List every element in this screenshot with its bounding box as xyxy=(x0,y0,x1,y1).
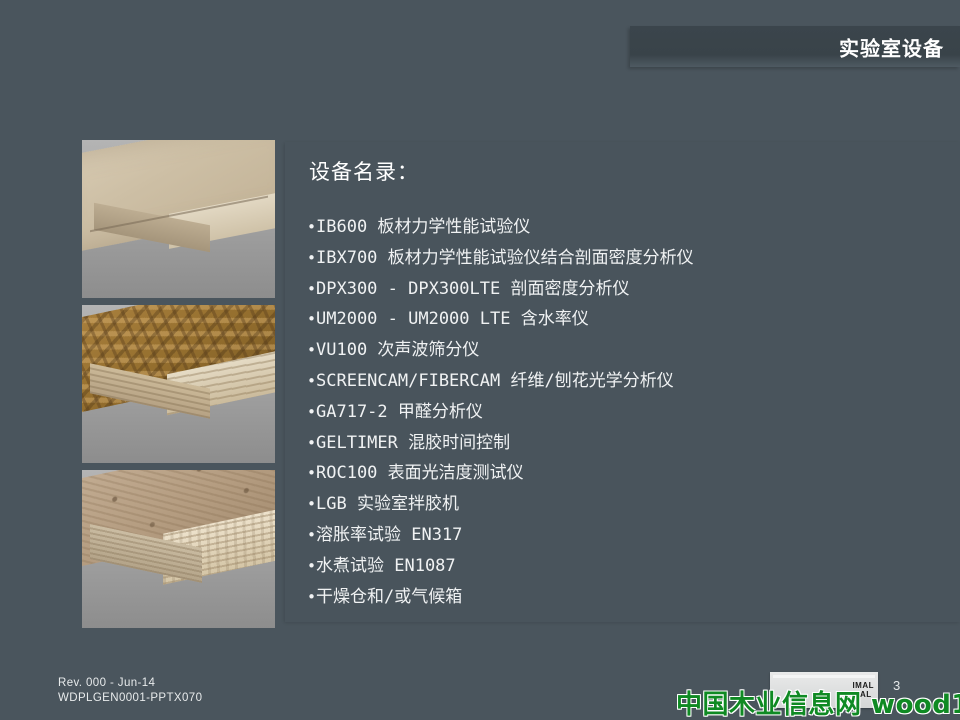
list-item: GA717-2 甲醛分析仪 xyxy=(307,397,952,428)
equipment-content-panel: 设备名录： IB600 板材力学性能试验仪 IBX700 板材力学性能试验仪结合… xyxy=(285,142,960,622)
list-item: UM2000 - UM2000 LTE 含水率仪 xyxy=(307,304,952,335)
list-item: IBX700 板材力学性能试验仪结合剖面密度分析仪 xyxy=(307,243,952,274)
site-watermark: 中国木业信息网 wood168.com xyxy=(676,684,960,720)
list-item: 溶胀率试验 EN317 xyxy=(307,520,952,551)
mdf-board-photo xyxy=(82,140,275,298)
equipment-list: IB600 板材力学性能试验仪 IBX700 板材力学性能试验仪结合剖面密度分析… xyxy=(307,212,952,612)
footer-revision: Rev. 000 - Jun-14 xyxy=(58,676,202,691)
list-item: GELTIMER 混胶时间控制 xyxy=(307,428,952,459)
logo-top-bar xyxy=(773,675,875,678)
slide-header-bar: 实验室设备 xyxy=(630,26,960,67)
list-item: LGB 实验室拌胶机 xyxy=(307,489,952,520)
equipment-list-heading: 设备名录： xyxy=(309,156,419,186)
footer-document-code: WDPLGEN0001-PPTX070 xyxy=(58,691,202,706)
list-item: 干燥仓和/或气候箱 xyxy=(307,582,952,613)
list-item: SCREENCAM/FIBERCAM 纤维/刨花光学分析仪 xyxy=(307,366,952,397)
list-item: DPX300 - DPX300LTE 剖面密度分析仪 xyxy=(307,274,952,305)
footer-document-info: Rev. 000 - Jun-14 WDPLGEN0001-PPTX070 xyxy=(58,676,202,706)
list-item: IB600 板材力学性能试验仪 xyxy=(307,212,952,243)
particleboard-photo xyxy=(82,470,275,628)
page-title: 实验室设备 xyxy=(839,32,944,61)
slide-canvas: 实验室设备 设备名录： IB600 板材力学性能试验仪 IBX70 xyxy=(0,0,960,720)
photo-column xyxy=(82,140,275,628)
osb-board-photo xyxy=(82,305,275,463)
list-item: ROC100 表面光洁度测试仪 xyxy=(307,458,952,489)
list-item: VU100 次声波筛分仪 xyxy=(307,335,952,366)
list-item: 水煮试验 EN1087 xyxy=(307,551,952,582)
